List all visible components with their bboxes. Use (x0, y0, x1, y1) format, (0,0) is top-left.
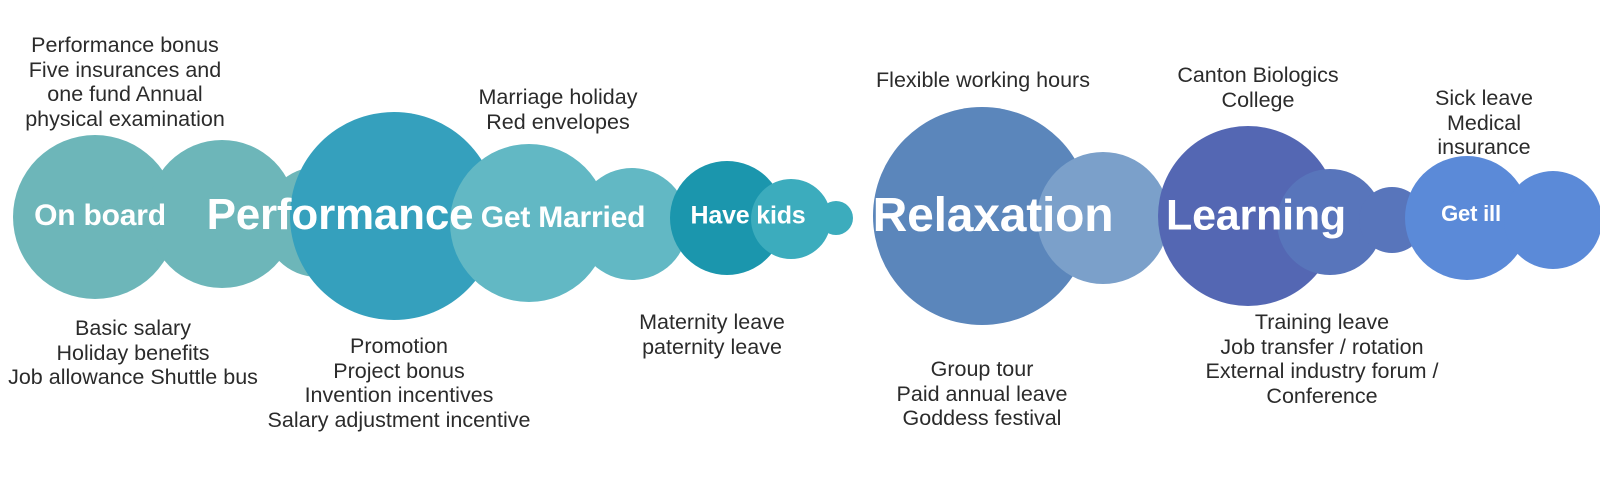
caption-learning-above: Canton Biologics College (1177, 63, 1338, 112)
caption-on-board-above: Performance bonus Five insurances and on… (25, 33, 225, 132)
label-get-ill: Get ill (1441, 203, 1501, 225)
caption-get-ill-above: Sick leave Medical insurance (1426, 86, 1542, 160)
label-get-married: Get Married (481, 203, 646, 233)
caption-performance-below: Promotion Project bonus Invention incent… (268, 334, 531, 433)
bubble-get-ill-second[interactable] (1504, 171, 1600, 269)
label-performance: Performance (207, 193, 474, 237)
caption-learning-below: Training leave Job transfer / rotation E… (1183, 310, 1461, 409)
label-have-kids: Have kids (691, 204, 806, 229)
label-learning: Learning (1166, 195, 1346, 238)
label-on-board: On board (34, 201, 166, 231)
caption-have-kids-below: Maternity leave paternity leave (639, 310, 785, 359)
caption-on-board-below: Basic salary Holiday benefits Job allowa… (8, 316, 258, 390)
infographic-canvas: On boardPerformanceGet MarriedHave kidsR… (0, 0, 1600, 480)
caption-relaxation-below: Group tour Paid annual leave Goddess fes… (897, 357, 1068, 431)
label-relaxation: Relaxation (873, 192, 1114, 240)
bubble-have-kids-dot[interactable] (819, 201, 853, 235)
caption-get-married-above: Marriage holiday Red envelopes (479, 85, 638, 134)
caption-relaxation-above: Flexible working hours (876, 68, 1090, 93)
